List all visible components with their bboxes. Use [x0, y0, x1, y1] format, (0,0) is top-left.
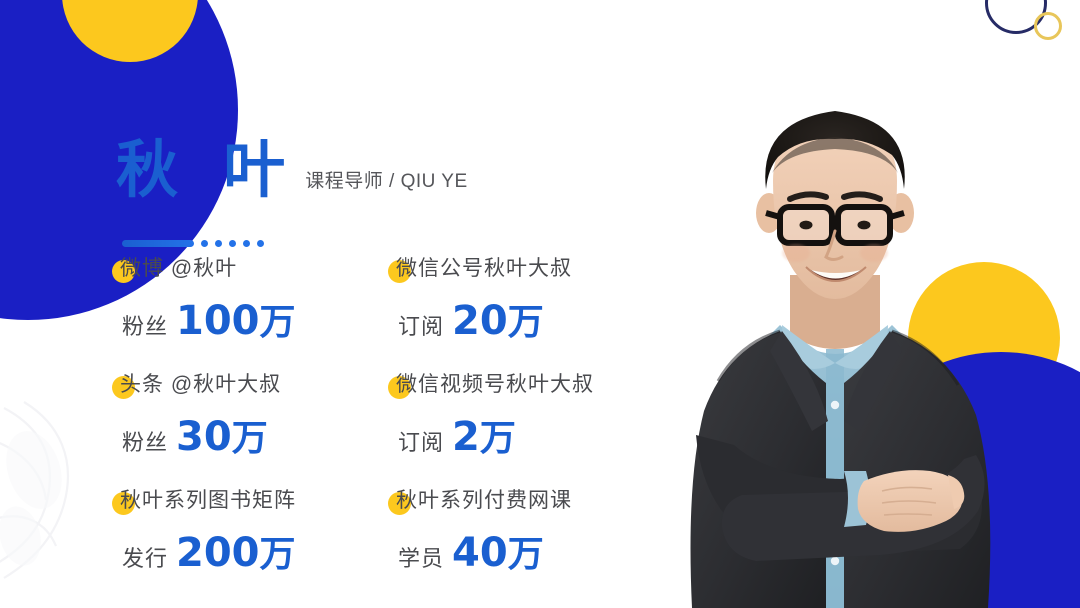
- instructor-portrait: [630, 63, 1050, 608]
- stat-label: 微信公号秋叶大叔: [384, 258, 648, 279]
- page-subtitle: 课程导师 / QIU YE: [305, 166, 467, 202]
- stat-unit: 订阅: [398, 309, 444, 341]
- stat-unit: 学员: [398, 541, 444, 573]
- divider: [122, 240, 264, 247]
- stat-item: 秋叶系列付费网课 学员 40 万: [384, 490, 648, 606]
- stat-item: 头条 @秋叶大叔 粉丝 30 万: [108, 374, 384, 490]
- slide-canvas: 秋 叶 课程导师 / QIU YE 微博 @秋叶 粉丝 100 万: [0, 0, 1080, 608]
- stat-number: 2: [452, 417, 480, 457]
- divider-dot: [243, 240, 250, 247]
- stat-item: 微博 @秋叶 粉丝 100 万: [108, 258, 384, 374]
- divider-dot: [257, 240, 264, 247]
- stat-label: 头条 @秋叶大叔: [108, 374, 384, 395]
- stat-unit: 粉丝: [122, 309, 168, 341]
- stat-wan: 万: [508, 536, 544, 572]
- stat-number: 20: [452, 301, 508, 341]
- yellow-ring-icon: [1034, 12, 1062, 40]
- stat-value: 粉丝 30 万: [108, 417, 384, 457]
- stat-item: 秋叶系列图书矩阵 发行 200 万: [108, 490, 384, 606]
- stat-label: 秋叶系列付费网课: [384, 490, 648, 511]
- stat-value: 学员 40 万: [384, 533, 648, 573]
- stat-value: 订阅 20 万: [384, 301, 648, 341]
- stat-label: 微博 @秋叶: [108, 258, 384, 279]
- stat-value: 订阅 2 万: [384, 417, 648, 457]
- stat-wan: 万: [260, 536, 296, 572]
- page-title: 秋 叶: [116, 140, 299, 202]
- stat-unit: 粉丝: [122, 425, 168, 457]
- stat-number: 200: [176, 533, 260, 573]
- stat-unit: 订阅: [398, 425, 444, 457]
- content-panel: 秋 叶 课程导师 / QIU YE 微博 @秋叶 粉丝 100 万: [0, 0, 660, 608]
- stat-item: 微信公号秋叶大叔 订阅 20 万: [384, 258, 648, 374]
- stat-wan: 万: [508, 304, 544, 340]
- divider-dot: [229, 240, 236, 247]
- stat-value: 发行 200 万: [108, 533, 384, 573]
- stat-wan: 万: [260, 304, 296, 340]
- stat-number: 100: [176, 301, 260, 341]
- stat-value: 粉丝 100 万: [108, 301, 384, 341]
- stat-label: 秋叶系列图书矩阵: [108, 490, 384, 511]
- divider-dot: [215, 240, 222, 247]
- stat-number: 40: [452, 533, 508, 573]
- stat-wan: 万: [232, 420, 268, 456]
- stat-unit: 发行: [122, 541, 168, 573]
- title-row: 秋 叶 课程导师 / QIU YE: [116, 140, 468, 202]
- stat-number: 30: [176, 417, 232, 457]
- stat-item: 微信视频号秋叶大叔 订阅 2 万: [384, 374, 648, 490]
- stat-wan: 万: [480, 420, 516, 456]
- divider-bar: [122, 240, 194, 247]
- divider-dot: [201, 240, 208, 247]
- stat-label: 微信视频号秋叶大叔: [384, 374, 648, 395]
- stats-grid: 微博 @秋叶 粉丝 100 万 微信公号秋叶大叔 订阅 20 万 头条 @秋叶大: [108, 258, 648, 606]
